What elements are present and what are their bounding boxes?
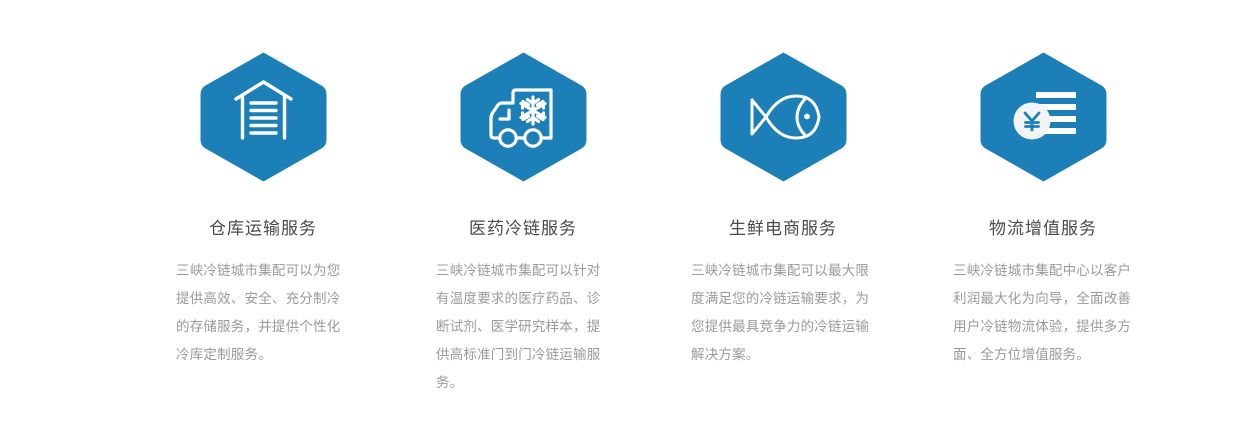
- service-title: 医药冷链服务: [393, 217, 653, 241]
- service-description: 三峡冷链城市集配可以为您提供高效、安全、充分制冷的存储服务，并提供个性化冷库定制…: [176, 257, 351, 369]
- warehouse-icon: [198, 50, 329, 184]
- hexagon-badge-warehouse: [133, 50, 393, 186]
- hexagon-badge-fresh: [653, 50, 913, 186]
- hexagon-badge-value-added: [913, 50, 1173, 186]
- hexagon-badge-pharma: [393, 50, 653, 186]
- service-card-pharma[interactable]: 医药冷链服务 三峡冷链城市集配可以针对有温度要求的医疗药品、诊断试剂、医学研究样…: [393, 50, 653, 424]
- service-card-warehouse[interactable]: 仓库运输服务 三峡冷链城市集配可以为您提供高效、安全、充分制冷的存储服务，并提供…: [133, 50, 393, 424]
- service-card-value-added[interactable]: 物流增值服务 三峡冷链城市集配中心以客户利润最大化为向导，全面改善用户冷链物流体…: [913, 50, 1173, 424]
- service-title: 物流增值服务: [913, 217, 1173, 241]
- service-card-fresh-ecommerce[interactable]: 生鲜电商服务 三峡冷链城市集配可以最大限度满足您的冷链运输要求，为您提供最具竞争…: [653, 50, 913, 424]
- services-row: 仓库运输服务 三峡冷链城市集配可以为您提供高效、安全、充分制冷的存储服务，并提供…: [0, 0, 1233, 424]
- service-title: 仓库运输服务: [133, 217, 393, 241]
- service-description: 三峡冷链城市集配中心以客户利润最大化为向导，全面改善用户冷链物流体验，提供多方面…: [953, 257, 1133, 369]
- refrigerated-truck-icon: [458, 50, 589, 184]
- fish-icon: [718, 50, 849, 184]
- service-description: 三峡冷链城市集配可以最大限度满足您的冷链运输要求，为您提供最具竞争力的冷链运输解…: [691, 257, 877, 369]
- service-description: 三峡冷链城市集配可以针对有温度要求的医疗药品、诊断试剂、医学研究样本，提供高标准…: [436, 257, 611, 397]
- service-title: 生鲜电商服务: [653, 217, 913, 241]
- yuan-coin-icon: [978, 50, 1109, 184]
